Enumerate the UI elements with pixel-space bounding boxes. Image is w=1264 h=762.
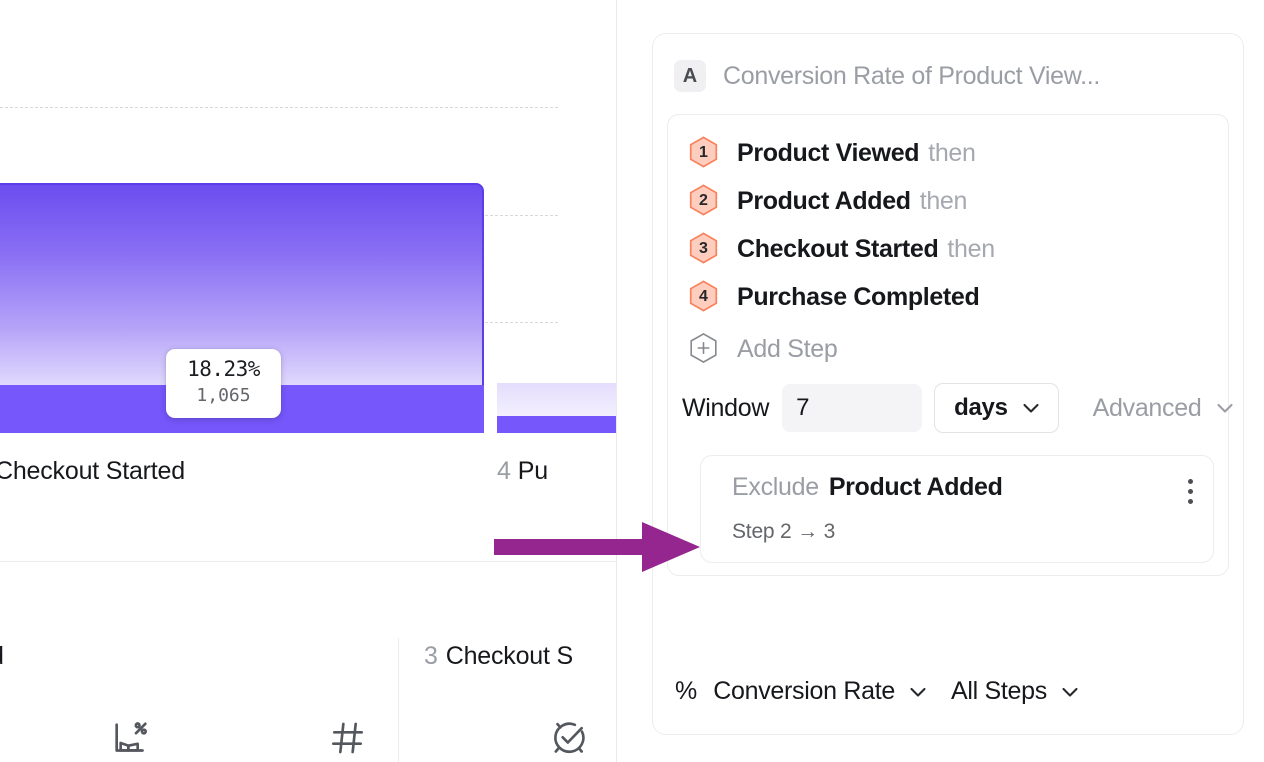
x-axis-label-3: Checkout Started bbox=[0, 457, 185, 486]
exclude-prefix-label: Exclude bbox=[732, 473, 819, 502]
funnel-step-1[interactable]: 1 Product Viewed then bbox=[668, 129, 1228, 177]
tooltip-count: 1,065 bbox=[166, 384, 281, 407]
chevron-down-icon bbox=[1020, 397, 1042, 419]
hexagon-badge-icon: 3 bbox=[688, 232, 719, 266]
funnel-step-2[interactable]: 2 Product Added then bbox=[668, 177, 1228, 225]
funnel-step-3-name: Checkout Started bbox=[737, 235, 938, 264]
chart-tooltip: 18.23% 1,065 bbox=[166, 349, 281, 418]
funnel-step-1-name: Product Viewed bbox=[737, 139, 919, 168]
funnel-step-3-number: 3 bbox=[688, 232, 719, 266]
scope-select[interactable]: All Steps bbox=[951, 677, 1081, 706]
panel-footer-controls: % Conversion Rate All Steps bbox=[675, 677, 1081, 706]
funnel-step-4[interactable]: 4 Purchase Completed bbox=[668, 273, 1228, 321]
window-unit-value: days bbox=[954, 394, 1008, 422]
x-axis-label-3-text: Checkout Started bbox=[0, 457, 185, 485]
funnel-step-3[interactable]: 3 Checkout Started then bbox=[668, 225, 1228, 273]
funnel-step-3-connector: then bbox=[947, 235, 994, 264]
x-axis-labels: Checkout Started 4Pu bbox=[0, 457, 617, 497]
exclude-target-event[interactable]: Product Added bbox=[829, 473, 1003, 502]
metric-select[interactable]: Conversion Rate bbox=[713, 677, 929, 706]
panel-title[interactable]: Conversion Rate of Product View... bbox=[723, 62, 1100, 91]
step-card-title-2-text: d bbox=[0, 642, 4, 670]
funnel-plot-area[interactable]: 18.23% 1,065 bbox=[0, 0, 617, 440]
advanced-options-button[interactable]: Advanced bbox=[1093, 394, 1237, 423]
panel-header: A Conversion Rate of Product View... bbox=[653, 34, 1243, 114]
funnel-step-cards-strip: d 3Checkout S bbox=[0, 562, 617, 762]
funnel-step-2-connector: then bbox=[920, 187, 967, 216]
exclude-rule-range[interactable]: Step 2 → 3 bbox=[701, 504, 1213, 544]
chevron-down-icon bbox=[1059, 681, 1081, 703]
funnel-step-2-number: 2 bbox=[688, 184, 719, 218]
step-card-title-3-index: 3 bbox=[424, 642, 438, 670]
x-axis-label-4-index: 4 bbox=[497, 457, 511, 485]
funnel-step-1-number: 1 bbox=[688, 136, 719, 170]
funnel-step-2-name: Product Added bbox=[737, 187, 911, 216]
step-card-title-3-text: Checkout S bbox=[446, 642, 573, 670]
exclude-rule-menu-icon[interactable] bbox=[1187, 473, 1193, 504]
funnel-step-4-number: 4 bbox=[688, 280, 719, 314]
gridline-1 bbox=[0, 107, 558, 108]
funnel-step-1-connector: then bbox=[928, 139, 975, 168]
percent-icon: % bbox=[675, 677, 697, 706]
add-step-button[interactable]: Add Step bbox=[668, 321, 1228, 369]
exclude-rule-title-row: Exclude Product Added bbox=[701, 473, 1213, 504]
hexagon-badge-icon: 1 bbox=[688, 136, 719, 170]
x-axis-label-4: 4Pu bbox=[497, 457, 548, 486]
hexagon-plus-icon bbox=[688, 332, 719, 366]
funnel-bar-purchase-completed-base[interactable] bbox=[497, 416, 617, 433]
axis-baseline bbox=[0, 433, 617, 434]
step-card-title-3: 3Checkout S bbox=[424, 642, 573, 671]
advanced-label: Advanced bbox=[1093, 394, 1202, 423]
series-badge-a: A bbox=[674, 60, 706, 92]
conversion-window-row: Window days Advanced bbox=[668, 369, 1228, 433]
scope-select-value: All Steps bbox=[951, 677, 1047, 706]
funnel-builder-panel: A Conversion Rate of Product View... 1 P… bbox=[652, 33, 1244, 735]
chevron-down-icon bbox=[1214, 397, 1236, 419]
funnel-steps-card: 1 Product Viewed then 2 Product Added th… bbox=[667, 114, 1229, 576]
step-card-divider bbox=[398, 638, 399, 762]
exclude-rule-card[interactable]: Exclude Product Added Step 2 → 3 bbox=[700, 455, 1214, 563]
step-card-title-2: d bbox=[0, 642, 4, 671]
window-label: Window bbox=[682, 394, 769, 423]
hash-icon[interactable] bbox=[328, 718, 368, 758]
funnel-percent-chart-icon[interactable] bbox=[110, 718, 150, 758]
window-value-input[interactable] bbox=[782, 384, 922, 432]
funnel-bar-purchase-completed[interactable] bbox=[497, 383, 617, 416]
chevron-down-icon bbox=[907, 681, 929, 703]
window-unit-select[interactable]: days bbox=[934, 383, 1059, 433]
hexagon-badge-icon: 2 bbox=[688, 184, 719, 218]
funnel-chart-pane: 18.23% 1,065 Checkout Started 4Pu d 3Che… bbox=[0, 0, 617, 762]
funnel-step-4-name: Purchase Completed bbox=[737, 283, 979, 312]
tooltip-percent: 18.23% bbox=[166, 358, 281, 382]
metric-select-value: Conversion Rate bbox=[713, 677, 895, 706]
x-axis-label-4-text: Pu bbox=[518, 457, 548, 485]
pane-divider bbox=[616, 0, 617, 762]
add-step-label: Add Step bbox=[737, 335, 837, 364]
target-check-icon[interactable] bbox=[549, 718, 589, 758]
hexagon-badge-icon: 4 bbox=[688, 280, 719, 314]
